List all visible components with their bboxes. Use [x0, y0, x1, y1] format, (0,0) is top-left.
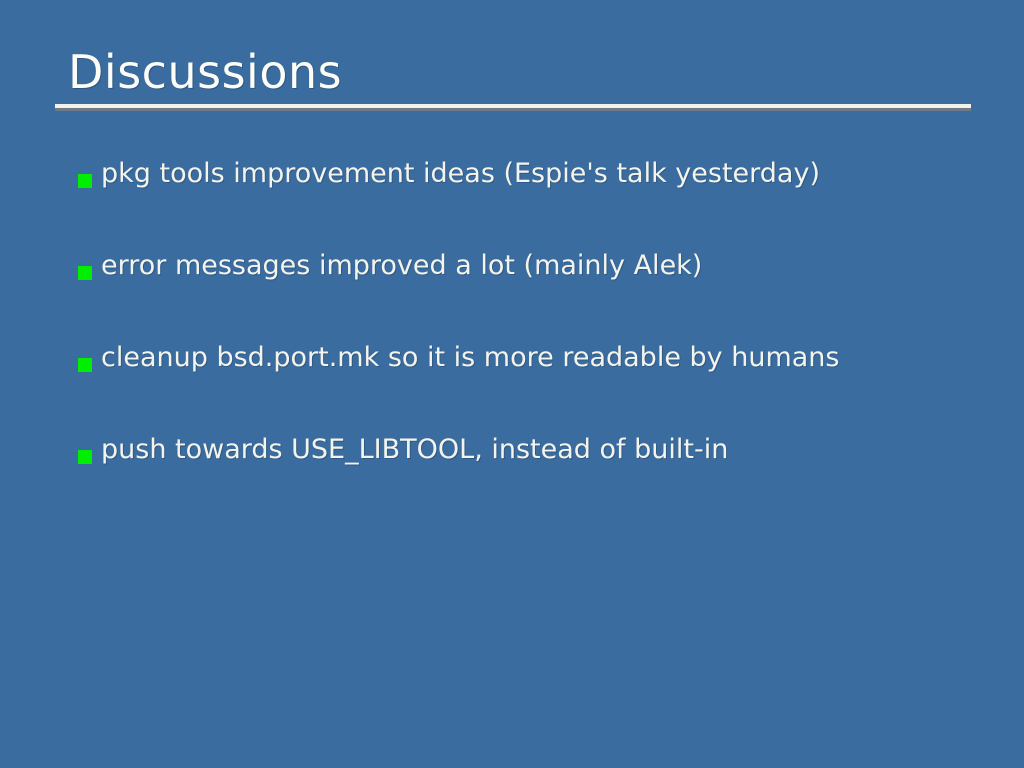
green-square-bullet-icon: [78, 266, 92, 280]
green-square-bullet-icon: [78, 174, 92, 188]
list-item: push towards USE_LIBTOOL, instead of bui…: [78, 434, 978, 526]
green-square-bullet-icon: [78, 450, 92, 464]
presentation-slide: Discussions pkg tools improvement ideas …: [0, 0, 1024, 768]
title-underline-rule: [55, 104, 971, 108]
slide-title-block: Discussions: [55, 48, 971, 96]
list-item-label: pkg tools improvement ideas (Espie's tal…: [101, 158, 820, 190]
list-item-label: push towards USE_LIBTOOL, instead of bui…: [101, 434, 728, 466]
list-item-label: error messages improved a lot (mainly Al…: [101, 250, 702, 282]
green-square-bullet-icon: [78, 358, 92, 372]
list-item-label: cleanup bsd.port.mk so it is more readab…: [101, 342, 839, 374]
list-item: cleanup bsd.port.mk so it is more readab…: [78, 342, 978, 434]
bullet-list: pkg tools improvement ideas (Espie's tal…: [78, 158, 978, 526]
list-item: error messages improved a lot (mainly Al…: [78, 250, 978, 342]
list-item: pkg tools improvement ideas (Espie's tal…: [78, 158, 978, 250]
page-title: Discussions: [55, 48, 971, 96]
